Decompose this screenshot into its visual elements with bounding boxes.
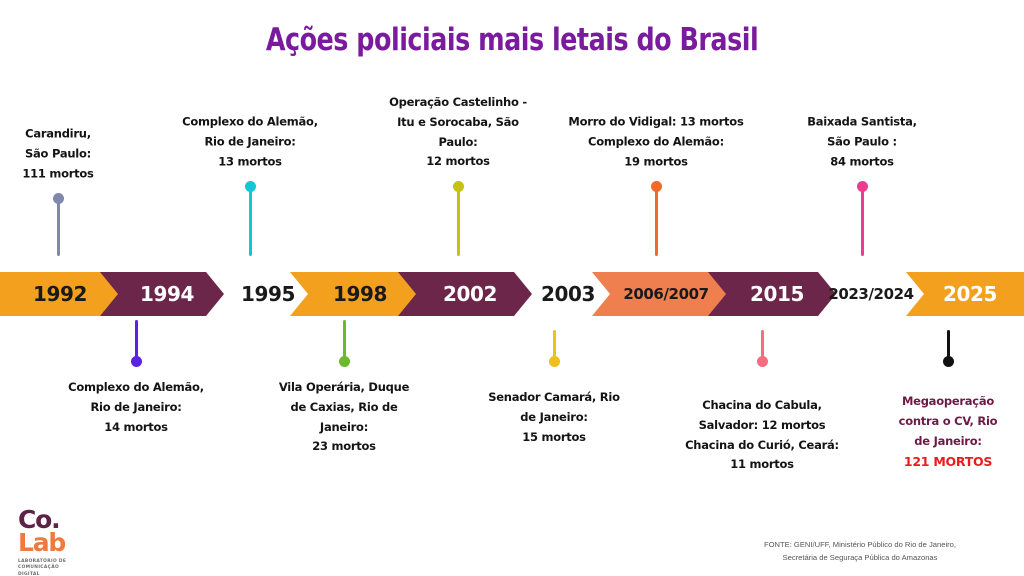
event-line: Complexo do Alemão: bbox=[538, 132, 774, 152]
year-label: 1994 bbox=[140, 282, 194, 306]
event-line: de Caxias, Rio de bbox=[259, 398, 429, 418]
connector-dot-2025 bbox=[943, 356, 954, 367]
connector-dot-1994 bbox=[131, 356, 142, 367]
event-line: 11 mortos bbox=[662, 455, 862, 475]
event-line: Baixada Santista, bbox=[772, 113, 952, 133]
connector-dot-1994 bbox=[245, 181, 256, 192]
event-death-toll: 121 MORTOS bbox=[868, 451, 1024, 473]
event-line: 12 mortos bbox=[358, 152, 558, 172]
event-line: São Paulo: bbox=[0, 144, 133, 164]
year-label: 2015 bbox=[750, 282, 804, 306]
event-block-1994: Complexo do Alemão,Rio de Janeiro:13 mor… bbox=[155, 113, 345, 172]
event-line: Janeiro: bbox=[259, 418, 429, 438]
timeline-year-2002[interactable]: 2002 bbox=[398, 272, 532, 316]
event-block-2006-2007: Morro do Vidigal: 13 mortosComplexo do A… bbox=[538, 113, 774, 172]
event-block-2003: Senador Camará, Riode Janeiro:15 mortos bbox=[461, 388, 647, 447]
logo-wordmark: Co. Lab bbox=[18, 508, 128, 555]
event-line: Complexo do Alemão, bbox=[43, 378, 229, 398]
connector-dot-2003 bbox=[549, 356, 560, 367]
event-line: Chacina do Cabula, bbox=[662, 396, 862, 416]
year-label: 2023/2024 bbox=[828, 285, 913, 303]
page-title: Ações policiais mais letais do Brasil bbox=[92, 22, 932, 58]
event-line: Megaoperação bbox=[868, 392, 1024, 412]
timeline-year-1994[interactable]: 1994 bbox=[100, 272, 224, 316]
event-line: 19 mortos bbox=[538, 152, 774, 172]
year-label: 1998 bbox=[333, 282, 387, 306]
event-line: Salvador: 12 mortos bbox=[662, 416, 862, 436]
event-line: Operação Castelinho - bbox=[358, 93, 558, 113]
event-line: Complexo do Alemão, bbox=[155, 113, 345, 133]
connector-dot-1992 bbox=[53, 193, 64, 204]
event-block-1998: Vila Operária, Duquede Caxias, Rio deJan… bbox=[259, 378, 429, 457]
connector-stem-2006-2007 bbox=[655, 186, 658, 256]
infographic-canvas: Ações policiais mais letais do Brasil Ca… bbox=[0, 0, 1024, 576]
event-line: Chacina do Curió, Ceará: bbox=[662, 436, 862, 456]
event-line: 111 mortos bbox=[0, 164, 133, 184]
connector-stem-1994 bbox=[249, 186, 252, 256]
event-block-2025: Megaoperaçãocontra o CV, Riode Janeiro:1… bbox=[868, 392, 1024, 473]
event-block-1998: Operação Castelinho -Itu e Sorocaba, São… bbox=[358, 93, 558, 172]
year-label: 2006/2007 bbox=[623, 285, 708, 303]
year-label: 1995 bbox=[241, 282, 295, 306]
event-line: Vila Operária, Duque bbox=[259, 378, 429, 398]
timeline-year-1998[interactable]: 1998 bbox=[290, 272, 420, 316]
event-block-2023-2024: Baixada Santista,São Paulo :84 mortos bbox=[772, 113, 952, 172]
event-line: contra o CV, Rio bbox=[868, 412, 1024, 432]
event-line: São Paulo : bbox=[772, 132, 952, 152]
connector-dot-2015 bbox=[757, 356, 768, 367]
timeline-year-2006-2007[interactable]: 2006/2007 bbox=[592, 272, 730, 316]
connector-dot-2006-2007 bbox=[651, 181, 662, 192]
year-label: 1992 bbox=[33, 282, 87, 306]
event-block-1992: Carandiru,São Paulo:111 mortos bbox=[0, 125, 133, 184]
logo-lab-text: Lab bbox=[18, 528, 65, 557]
logo-subtitle-line: Digital bbox=[18, 572, 128, 576]
year-label: 2003 bbox=[541, 282, 595, 306]
event-line: 23 mortos bbox=[259, 437, 429, 457]
event-line: 14 mortos bbox=[43, 418, 229, 438]
connector-dot-2023-2024 bbox=[857, 181, 868, 192]
event-line: Morro do Vidigal: 13 mortos bbox=[538, 113, 774, 133]
connector-dot-1998 bbox=[453, 181, 464, 192]
event-line: Rio de Janeiro: bbox=[155, 132, 345, 152]
source-credit: FONTE: GENI/UFF, Ministério Público do R… bbox=[710, 539, 1010, 564]
event-line: 15 mortos bbox=[461, 428, 647, 448]
event-line: 84 mortos bbox=[772, 152, 952, 172]
event-line: Carandiru, bbox=[0, 125, 133, 145]
event-line: de Janeiro: bbox=[461, 408, 647, 428]
year-label: 2025 bbox=[943, 282, 997, 306]
connector-dot-1998 bbox=[339, 356, 350, 367]
timeline-year-1992[interactable]: 1992 bbox=[0, 272, 120, 316]
event-line: Paulo: bbox=[358, 132, 558, 152]
event-line: Senador Camará, Rio bbox=[461, 388, 647, 408]
event-line: Rio de Janeiro: bbox=[43, 398, 229, 418]
event-line: de Janeiro: bbox=[868, 432, 1024, 452]
connector-stem-1992 bbox=[57, 198, 60, 256]
event-block-1994: Complexo do Alemão,Rio de Janeiro:14 mor… bbox=[43, 378, 229, 437]
timeline-bar: 1992199419951998200220032006/20072015202… bbox=[0, 272, 1024, 316]
year-label: 2002 bbox=[443, 282, 497, 306]
logo-subtitle: Laboratório deComunicaçãoDigital bbox=[18, 559, 128, 576]
connector-stem-1998 bbox=[457, 186, 460, 256]
event-line: Itu e Sorocaba, São bbox=[358, 113, 558, 133]
source-line: FONTE: GENI/UFF, Ministério Público do R… bbox=[710, 539, 1010, 551]
colab-logo: Co. Lab Laboratório deComunicaçãoDigital bbox=[18, 508, 128, 570]
event-block-2015: Chacina do Cabula,Salvador: 12 mortosCha… bbox=[662, 396, 862, 475]
connector-stem-2023-2024 bbox=[861, 186, 864, 256]
source-line: Secretária de Seguraça Pública do Amazon… bbox=[710, 552, 1010, 564]
event-line: 13 mortos bbox=[155, 152, 345, 172]
